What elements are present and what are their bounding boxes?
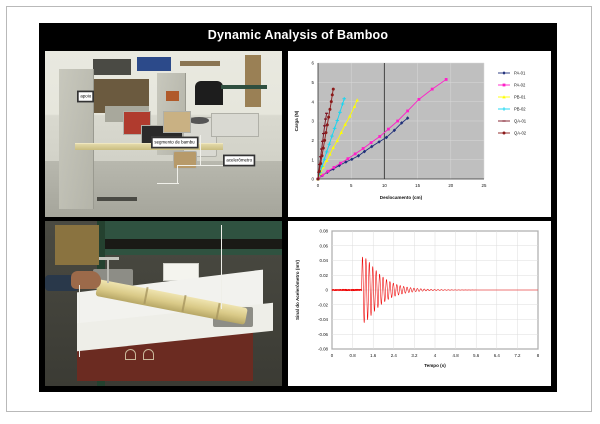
cabinet-handle-2 xyxy=(143,349,154,360)
svg-text:15: 15 xyxy=(415,183,420,188)
cable-horizontal xyxy=(177,165,225,166)
svg-text:5.6: 5.6 xyxy=(473,353,480,358)
cardboard-box xyxy=(163,111,191,133)
floor-tool xyxy=(97,197,137,201)
svg-text:PB-01: PB-01 xyxy=(514,95,526,100)
document-page: Dynamic Analysis of Bamboo xyxy=(6,6,592,412)
svg-text:Carga (N): Carga (N) xyxy=(294,110,299,131)
wall-rack xyxy=(180,61,220,66)
svg-text:5: 5 xyxy=(350,183,353,188)
back-table xyxy=(221,85,267,89)
wall-board xyxy=(93,59,131,75)
svg-text:7.2: 7.2 xyxy=(514,353,521,358)
svg-text:-0.06: -0.06 xyxy=(318,332,329,337)
sensor-cable-right xyxy=(221,225,222,309)
svg-text:6: 6 xyxy=(312,61,315,66)
load-displacement-svg: 01234560510152025Deslocamento (cm)Carga … xyxy=(288,51,551,217)
svg-text:3.2: 3.2 xyxy=(411,353,418,358)
callout-acelerometro: acelerômetro xyxy=(223,155,256,167)
cable-drop xyxy=(177,165,178,183)
svg-text:0: 0 xyxy=(317,183,320,188)
wood-stack xyxy=(55,225,99,265)
sensor-cable-left xyxy=(79,285,80,357)
svg-text:1.6: 1.6 xyxy=(370,353,377,358)
presentation-slide: Dynamic Analysis of Bamboo xyxy=(39,23,557,392)
svg-text:0.06: 0.06 xyxy=(319,243,328,248)
svg-text:0.08: 0.08 xyxy=(319,229,328,234)
svg-text:PB-02: PB-02 xyxy=(514,107,526,112)
test-setup-photo: apoio segmento de bambu acelerômetro xyxy=(45,51,282,217)
svg-text:1: 1 xyxy=(312,157,315,162)
svg-text:0: 0 xyxy=(331,353,334,358)
probe-rod xyxy=(107,259,109,283)
svg-text:25: 25 xyxy=(482,183,487,188)
svg-text:Tempo (s): Tempo (s) xyxy=(424,363,446,368)
svg-text:5: 5 xyxy=(312,80,315,85)
svg-text:6.4: 6.4 xyxy=(494,353,501,358)
svg-text:PA-02: PA-02 xyxy=(514,83,526,88)
shaker-top xyxy=(189,117,209,124)
svg-text:-0.02: -0.02 xyxy=(318,302,329,307)
svg-text:0.8: 0.8 xyxy=(350,353,357,358)
svg-text:QA-01: QA-01 xyxy=(514,119,527,124)
svg-text:4: 4 xyxy=(434,353,437,358)
cable-floor xyxy=(157,183,179,184)
load-displacement-chart: 01234560510152025Deslocamento (cm)Carga … xyxy=(288,51,551,217)
wall-poster xyxy=(137,57,171,71)
callout-segmento-de-bambu: segmento de bambu xyxy=(151,137,198,149)
machine-housing xyxy=(105,221,282,255)
machine-slot xyxy=(105,239,282,249)
svg-text:0.04: 0.04 xyxy=(319,258,328,263)
svg-text:0: 0 xyxy=(326,288,329,293)
specimen-photo xyxy=(45,221,282,386)
svg-text:0: 0 xyxy=(312,177,315,182)
svg-text:2: 2 xyxy=(312,138,315,143)
svg-text:20: 20 xyxy=(448,183,453,188)
cabinet-handle-1 xyxy=(125,349,136,360)
lab-scene-background: apoio segmento de bambu acelerômetro xyxy=(45,51,282,217)
specimen-scene-background xyxy=(45,221,282,386)
ladder xyxy=(245,55,261,107)
svg-text:0.02: 0.02 xyxy=(319,273,328,278)
accelerometer-signal-svg: 0.080.060.040.020-0.02-0.04-0.06-0.0800.… xyxy=(288,221,551,386)
svg-text:8: 8 xyxy=(537,353,540,358)
svg-text:-0.04: -0.04 xyxy=(318,317,329,322)
probe-head xyxy=(99,257,119,260)
accelerometer-arm xyxy=(211,113,259,137)
svg-text:2.4: 2.4 xyxy=(391,353,398,358)
svg-text:Sinal do Acelerômetro (mV): Sinal do Acelerômetro (mV) xyxy=(295,259,300,320)
svg-text:Deslocamento (cm): Deslocamento (cm) xyxy=(380,195,423,200)
svg-text:PA-01: PA-01 xyxy=(514,71,526,76)
operator-hand xyxy=(71,271,101,289)
cable-vertical xyxy=(200,135,201,165)
accelerometer-signal-chart: 0.080.060.040.020-0.02-0.04-0.06-0.0800.… xyxy=(288,221,551,386)
svg-text:QA-02: QA-02 xyxy=(514,131,527,136)
clamp xyxy=(166,91,179,101)
page-title: Dynamic Analysis of Bamboo xyxy=(39,23,557,47)
svg-text:-0.08: -0.08 xyxy=(318,347,329,352)
svg-text:3: 3 xyxy=(312,119,315,124)
svg-text:10: 10 xyxy=(382,183,387,188)
svg-text:4.8: 4.8 xyxy=(453,353,460,358)
svg-text:4: 4 xyxy=(312,99,315,104)
callout-apoio: apoio xyxy=(77,91,95,103)
office-chair xyxy=(195,81,223,105)
